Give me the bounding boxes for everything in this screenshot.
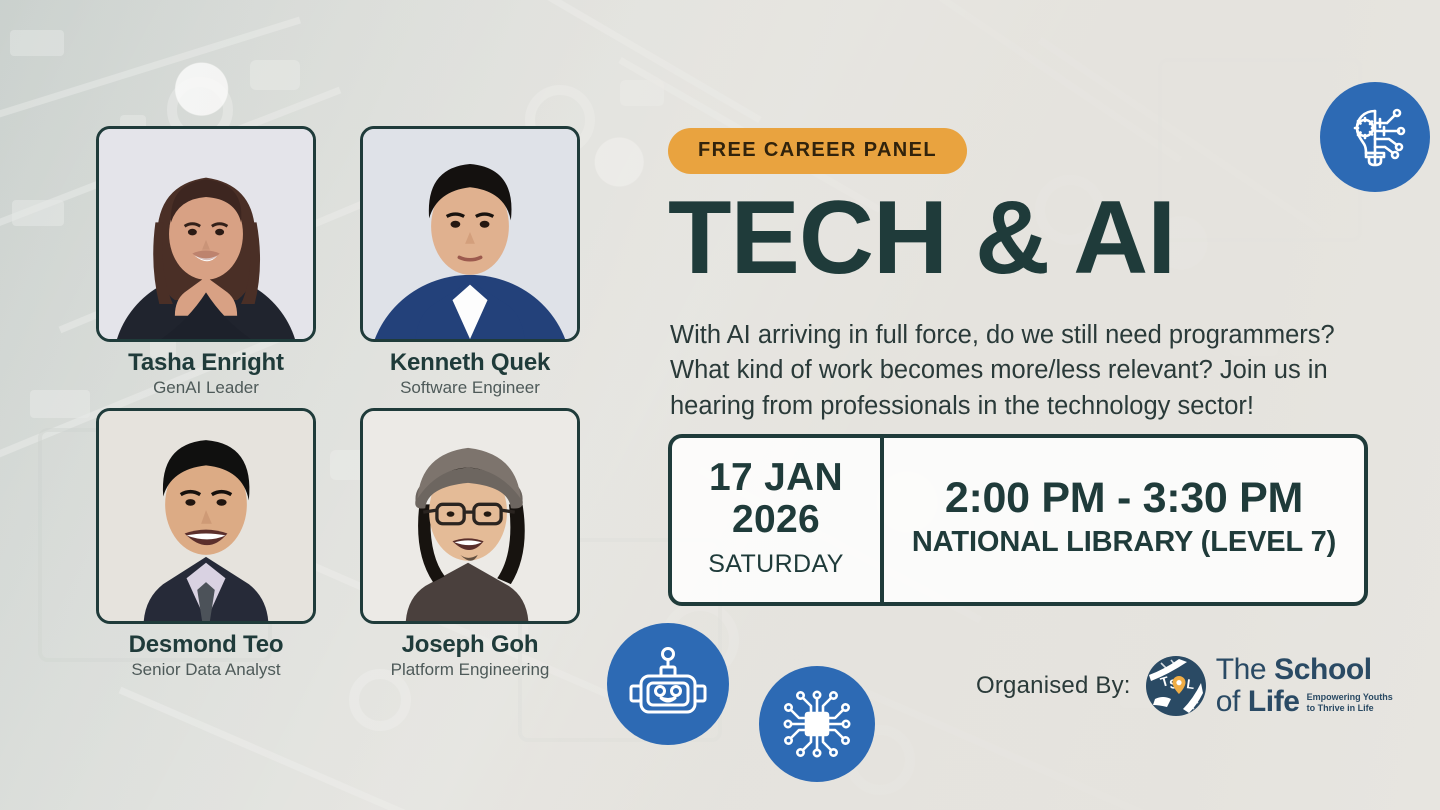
speaker-name: Joseph Goh bbox=[360, 632, 580, 659]
speaker-name: Desmond Teo bbox=[96, 632, 316, 659]
speaker-role: Platform Engineering bbox=[360, 660, 580, 680]
speaker-card: Tasha Enright GenAI Leader bbox=[96, 126, 316, 398]
organiser-name-line1: The School bbox=[1216, 655, 1393, 685]
speaker-role: Software Engineer bbox=[360, 378, 580, 398]
event-description: With AI arriving in full force, do we st… bbox=[670, 318, 1396, 424]
event-date: 17 JAN 2026 bbox=[672, 457, 880, 540]
event-details-panel: 17 JAN 2026 SATURDAY 2:00 PM - 3:30 PM N… bbox=[668, 434, 1368, 606]
speaker-name: Tasha Enright bbox=[96, 350, 316, 377]
ai-lightbulb-icon bbox=[1320, 82, 1430, 192]
speaker-photo-desmond-teo bbox=[96, 408, 316, 624]
speaker-role: Senior Data Analyst bbox=[96, 660, 316, 680]
event-day: SATURDAY bbox=[708, 550, 844, 579]
organiser-tagline: Empowering Youths to Thrive in Life bbox=[1307, 692, 1393, 717]
tsol-logo: T S L The School of Life Empowering Yout… bbox=[1145, 655, 1393, 717]
ai-chip-icon bbox=[759, 666, 875, 782]
page-title: TECH & AI bbox=[668, 186, 1175, 290]
organised-by-label: Organised By: bbox=[976, 672, 1131, 700]
speaker-role: GenAI Leader bbox=[96, 378, 316, 398]
organiser-name-line2: of Life bbox=[1216, 687, 1300, 717]
speaker-grid: Tasha Enright GenAI Leader bbox=[96, 126, 581, 681]
speaker-photo-tasha-enright bbox=[96, 126, 316, 342]
event-time-venue-block: 2:00 PM - 3:30 PM NATIONAL LIBRARY (LEVE… bbox=[884, 438, 1364, 602]
speaker-card: Desmond Teo Senior Data Analyst bbox=[96, 408, 316, 680]
speaker-card: Joseph Goh Platform Engineering bbox=[360, 408, 580, 680]
speaker-photo-kenneth-quek bbox=[360, 126, 580, 342]
robot-icon bbox=[607, 623, 729, 745]
speaker-card: Kenneth Quek Software Engineer bbox=[360, 126, 580, 398]
organiser-block: Organised By: T S L The School bbox=[976, 655, 1393, 717]
event-venue: NATIONAL LIBRARY (LEVEL 7) bbox=[912, 526, 1336, 559]
speaker-name: Kenneth Quek bbox=[360, 350, 580, 377]
event-date-block: 17 JAN 2026 SATURDAY bbox=[672, 438, 884, 602]
event-time: 2:00 PM - 3:30 PM bbox=[945, 475, 1303, 522]
event-poster: Tasha Enright GenAI Leader bbox=[0, 0, 1440, 810]
free-career-panel-badge: FREE CAREER PANEL bbox=[668, 128, 967, 174]
speaker-photo-joseph-goh bbox=[360, 408, 580, 624]
tsol-logo-mark: T S L bbox=[1145, 655, 1207, 717]
